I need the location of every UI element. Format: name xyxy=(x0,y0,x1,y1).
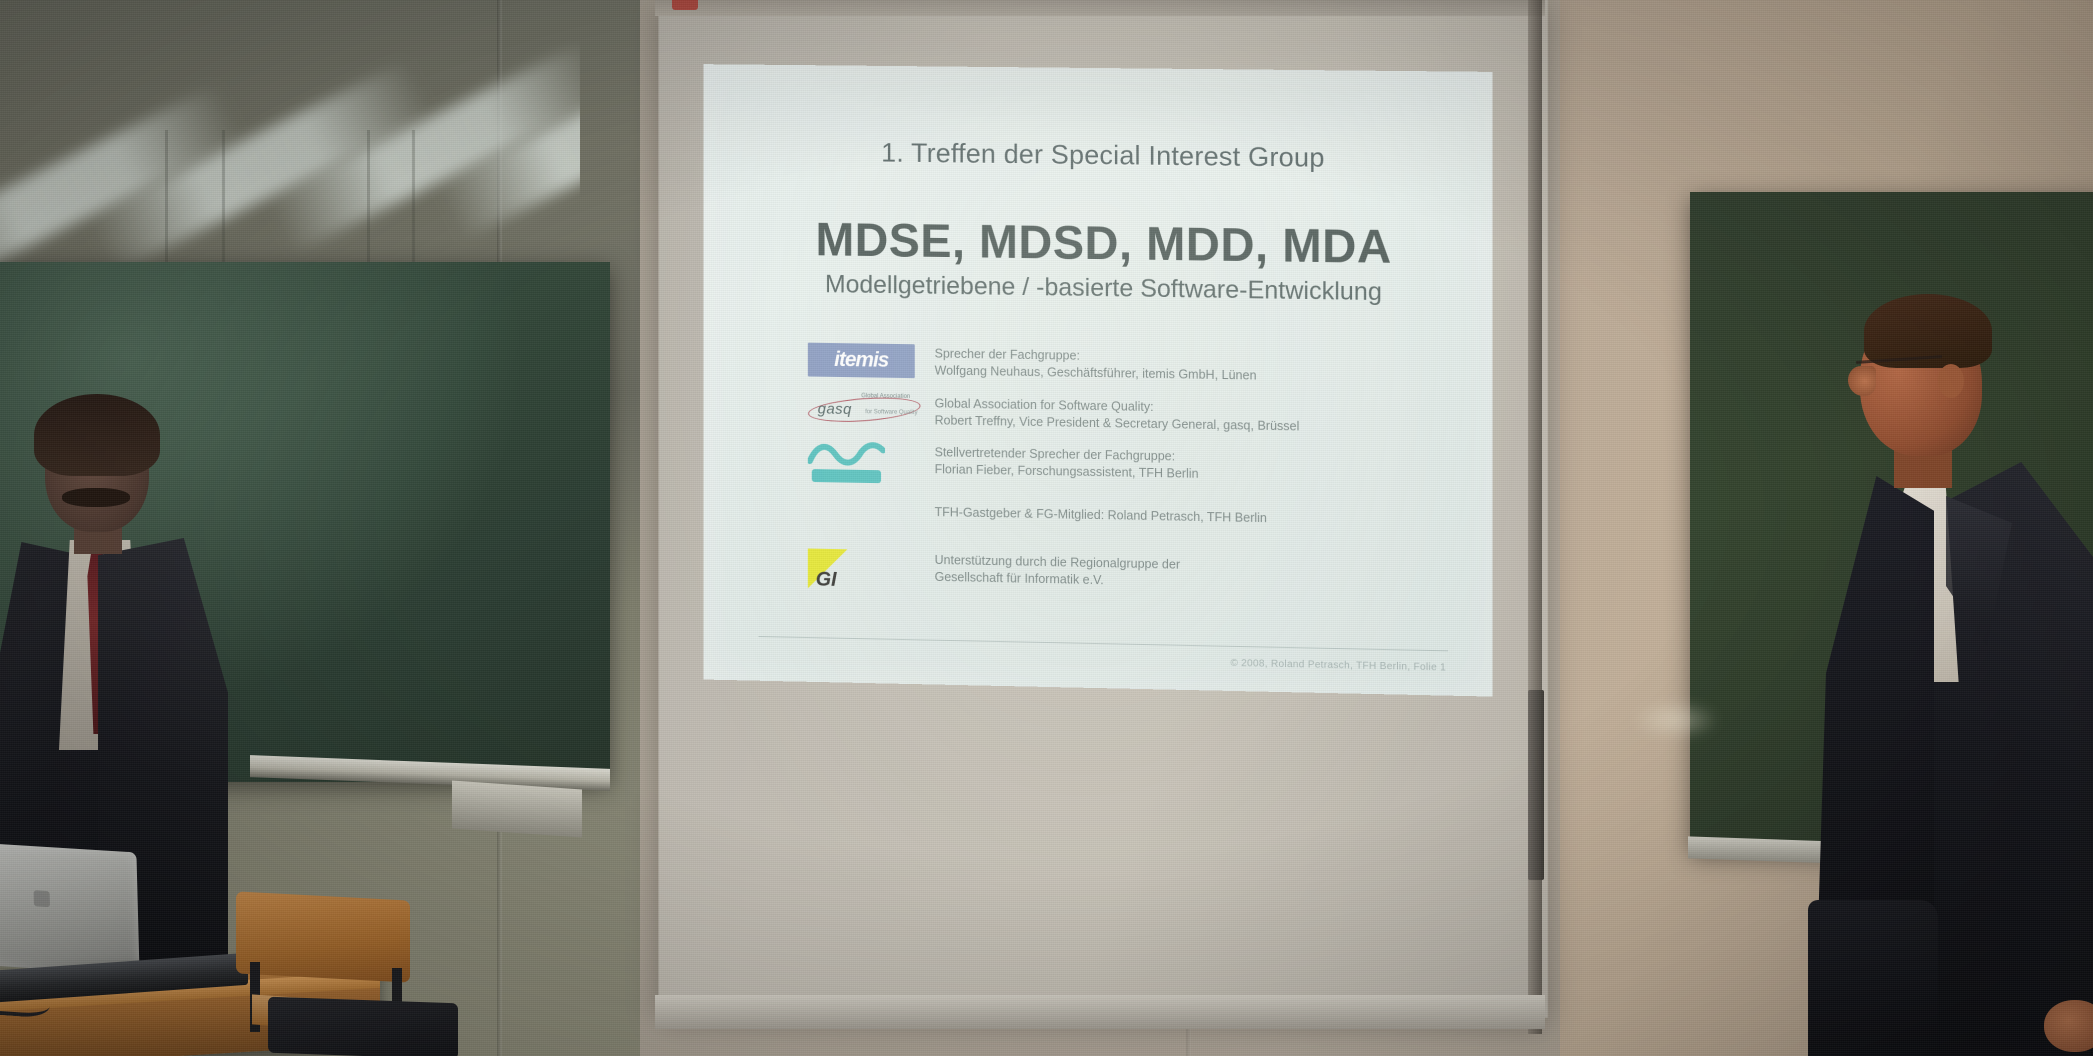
slide-subtitle: Modellgetriebene / -basierte Software-En… xyxy=(772,270,1436,308)
credit-line-2: Robert Treffny, Vice President & Secreta… xyxy=(935,412,1300,435)
wooden-chair-second xyxy=(268,997,458,1056)
credit-row: Stellvertretender Sprecher der Fachgrupp… xyxy=(808,441,1436,498)
credit-text: Sprecher der Fachgruppe: Wolfgang Neuhau… xyxy=(935,345,1257,385)
slide-title: MDSE, MDSD, MDD, MDA xyxy=(772,211,1436,275)
credit-logo-slot xyxy=(808,441,935,489)
credit-logo-slot xyxy=(808,501,935,533)
gasq-logo-tagline-bottom: for Software Quality xyxy=(865,409,917,416)
tfh-berlin-logo xyxy=(808,441,885,488)
credit-logo-slot: gasq Global Association for Software Qua… xyxy=(808,392,935,424)
credit-text: Stellvertretender Sprecher der Fachgrupp… xyxy=(935,443,1199,483)
presenter-right xyxy=(1820,300,2093,1056)
credit-line-1: Sprecher der Fachgruppe: xyxy=(935,347,1080,363)
credit-row: TFH-Gastgeber & FG-Mitglied: Roland Petr… xyxy=(808,501,1436,547)
credit-line-2: Florian Fieber, Forschungsassistent, TFH… xyxy=(935,461,1199,483)
shoulder-bag xyxy=(1808,900,1938,1056)
chalk-tray-box xyxy=(452,780,582,837)
credit-text: Global Association for Software Quality:… xyxy=(935,394,1300,436)
credit-line-2: Gesellschaft für Informatik e.V. xyxy=(935,569,1180,591)
credit-logo-slot: itemis xyxy=(808,343,935,379)
screen-weight-bar xyxy=(1528,690,1544,880)
tfh-bar xyxy=(812,469,881,483)
projection-screen-top-bar xyxy=(655,0,1545,16)
credit-text: Unterstützung durch die Regionalgruppe d… xyxy=(935,551,1180,591)
slide-credits-list: itemis Sprecher der Fachgruppe: Wolfgang… xyxy=(772,342,1436,607)
gi-logo-text: GI xyxy=(816,569,837,592)
itemis-logo: itemis xyxy=(808,343,915,379)
credit-row: gasq Global Association for Software Qua… xyxy=(808,392,1436,438)
gi-logo: GI xyxy=(808,549,861,596)
credit-line-1: Unterstützung durch die Regionalgruppe d… xyxy=(935,553,1180,572)
credit-line-1: Stellvertretender Sprecher der Fachgrupp… xyxy=(935,445,1176,463)
projection-screen-bottom-bar xyxy=(655,995,1545,1029)
gasq-logo-tagline-top: Global Association xyxy=(861,393,910,400)
ear xyxy=(1938,364,1964,398)
credit-row: itemis Sprecher der Fachgruppe: Wolfgang… xyxy=(808,343,1436,388)
chair-backrest xyxy=(236,891,410,982)
hand xyxy=(2044,1000,2093,1052)
laptop-screen xyxy=(0,843,140,974)
credit-text: TFH-Gastgeber & FG-Mitglied: Roland Petr… xyxy=(935,503,1267,527)
laptop-cable xyxy=(0,984,51,1019)
credit-logo-slot: GI xyxy=(808,549,935,597)
tfh-wave-icon xyxy=(808,441,885,468)
slide-kicker: 1. Treffen der Special Interest Group xyxy=(772,136,1436,175)
nose xyxy=(1848,366,1876,396)
wall-light-reflection xyxy=(1630,700,1720,740)
credit-row: GI Unterstützung durch die Regionalgrupp… xyxy=(808,549,1436,607)
screen-red-tab xyxy=(672,0,698,10)
credit-line-2: Wolfgang Neuhaus, Geschäftsführer, itemi… xyxy=(935,363,1257,385)
credit-line-1: TFH-Gastgeber & FG-Mitglied: Roland Petr… xyxy=(935,505,1267,525)
projected-slide: 1. Treffen der Special Interest Group MD… xyxy=(703,64,1492,696)
itemis-logo-text: itemis xyxy=(834,348,888,373)
gasq-logo: gasq Global Association for Software Qua… xyxy=(808,392,927,424)
mustache xyxy=(62,488,130,507)
credit-line-1: Global Association for Software Quality: xyxy=(935,396,1154,414)
gasq-logo-text: gasq xyxy=(818,400,852,417)
hair xyxy=(34,394,160,476)
lecture-room-photo: 1. Treffen der Special Interest Group MD… xyxy=(0,0,2093,1056)
laptop-logo xyxy=(34,890,50,907)
